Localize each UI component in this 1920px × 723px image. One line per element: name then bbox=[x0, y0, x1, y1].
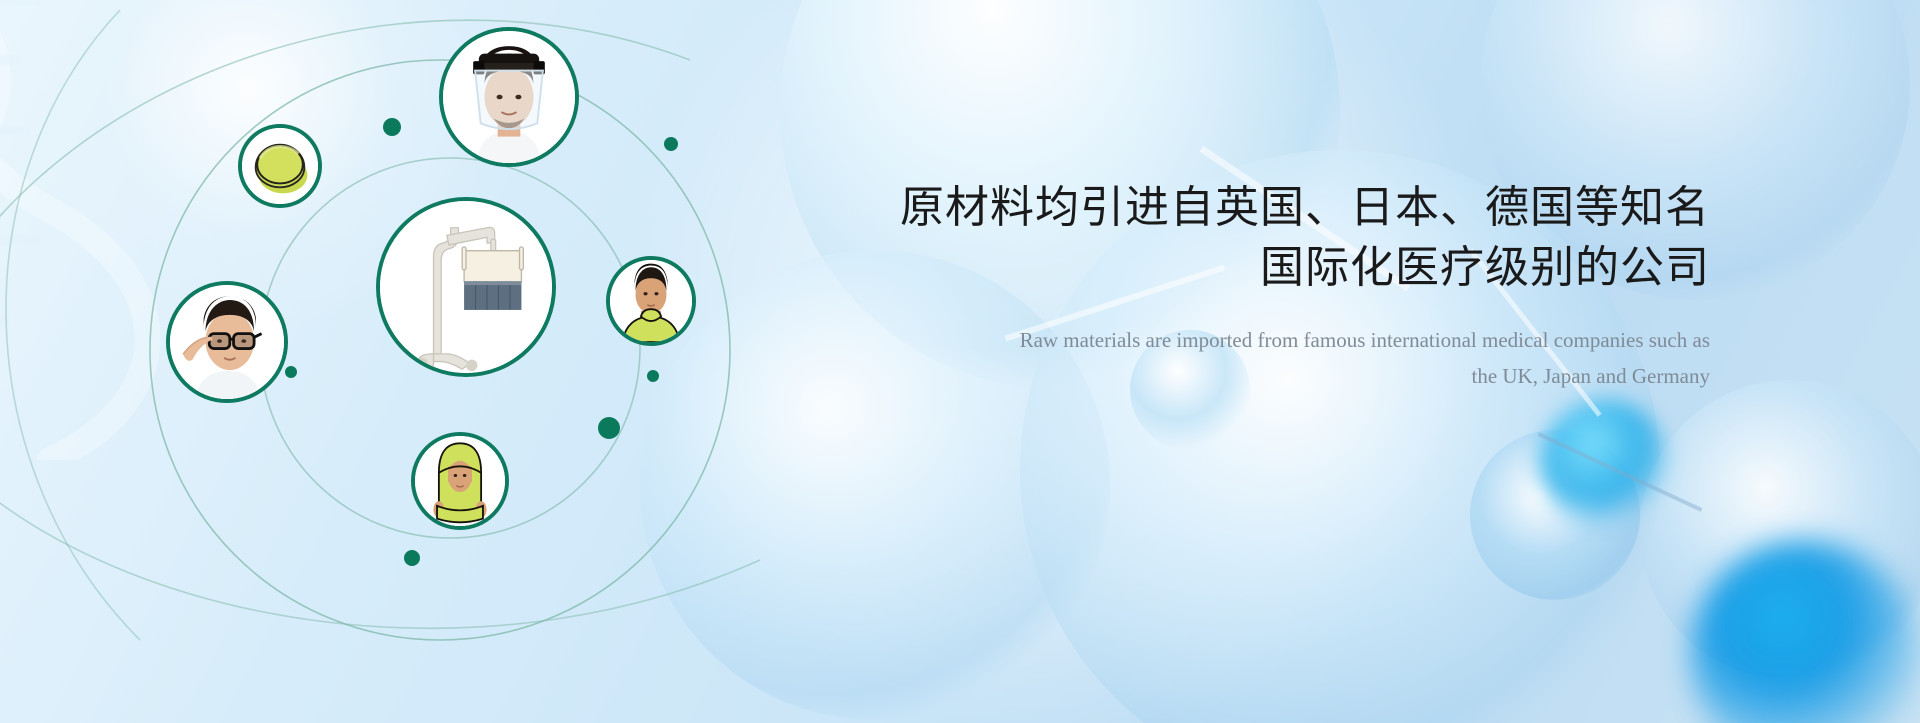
orbit-dot-1 bbox=[383, 118, 401, 136]
bubble-lead-cap[interactable] bbox=[238, 124, 322, 208]
bubble-mobile-x-ray-shield[interactable] bbox=[376, 197, 556, 377]
background-bokeh-blob bbox=[1690, 540, 1920, 723]
bubble-face-shield-man[interactable] bbox=[439, 27, 579, 167]
headline-line-1: 原材料均引进自英国、日本、德国等知名 bbox=[880, 180, 1710, 236]
background-bokeh-blob bbox=[1640, 380, 1920, 680]
banner-copy: 原材料均引进自英国、日本、德国等知名 国际化医疗级别的公司 Raw materi… bbox=[880, 180, 1710, 394]
mobile-x-ray-shield-photo bbox=[380, 201, 552, 373]
background-bokeh-blob bbox=[1470, 430, 1640, 600]
thyroid-collar-woman-photo bbox=[610, 260, 692, 342]
face-shield-man-photo bbox=[443, 31, 575, 163]
headline-line-2: 国际化医疗级别的公司 bbox=[880, 240, 1710, 296]
subtitle-line-2: the UK, Japan and Germany bbox=[880, 358, 1710, 394]
background-bokeh-blob bbox=[1540, 400, 1670, 530]
molecule-bond bbox=[1538, 432, 1703, 512]
lead-glasses-man-photo bbox=[170, 285, 284, 399]
subtitle: Raw materials are imported from famous i… bbox=[880, 322, 1710, 394]
subtitle-line-1: Raw materials are imported from famous i… bbox=[880, 322, 1710, 358]
bubble-lead-glasses-man[interactable] bbox=[166, 281, 288, 403]
orbit-dot-2 bbox=[664, 137, 678, 151]
bubble-thyroid-collar-woman[interactable] bbox=[606, 256, 696, 346]
bubble-lead-hood-woman[interactable] bbox=[411, 432, 509, 530]
orbit-dot-4 bbox=[647, 370, 659, 382]
lead-hood-woman-photo bbox=[415, 436, 505, 526]
orbit-dot-6 bbox=[404, 550, 420, 566]
hero-banner: 原材料均引进自英国、日本、德国等知名 国际化医疗级别的公司 Raw materi… bbox=[0, 0, 1920, 723]
orbit-dot-3 bbox=[285, 366, 297, 378]
lead-cap-icon bbox=[242, 128, 318, 204]
orbit-dot-5 bbox=[598, 417, 620, 439]
